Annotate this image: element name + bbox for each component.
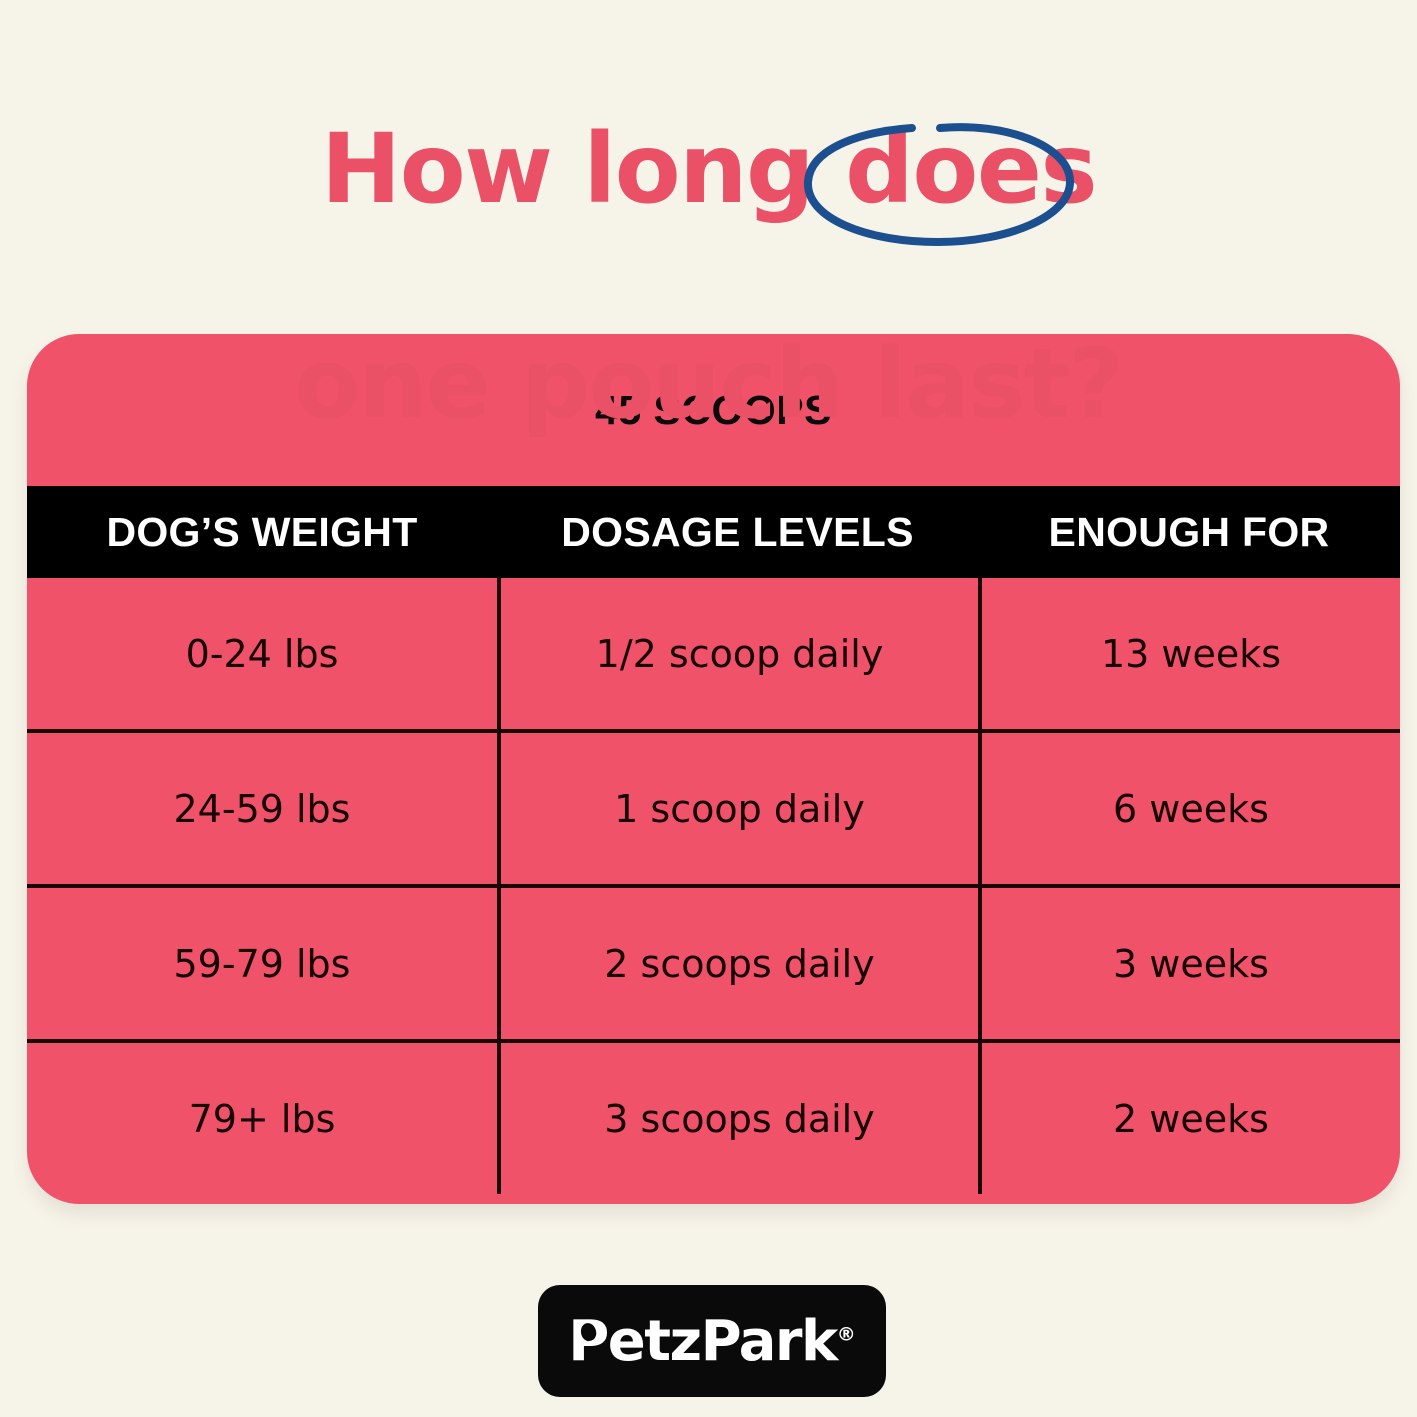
cell-dosage: 1 scoop daily bbox=[497, 733, 978, 884]
cell-weight: 24-59 lbs bbox=[27, 733, 497, 884]
cell-weight: 59-79 lbs bbox=[27, 888, 497, 1039]
cell-dosage: 2 scoops daily bbox=[497, 888, 978, 1039]
headline-block: How long does one pouch last? bbox=[0, 8, 1417, 546]
brand-logo-badge: PetzPark® bbox=[538, 1285, 886, 1397]
table-row: 24-59 lbs 1 scoop daily 6 weeks bbox=[27, 729, 1400, 884]
headline-line-1: How long does bbox=[294, 116, 1122, 224]
table-row: 0-24 lbs 1/2 scoop daily 13 weeks bbox=[27, 578, 1400, 729]
cell-weight: 79+ lbs bbox=[27, 1043, 497, 1194]
cell-duration: 2 weeks bbox=[978, 1043, 1400, 1194]
cell-dosage: 1/2 scoop daily bbox=[497, 578, 978, 729]
cell-duration: 6 weeks bbox=[978, 733, 1400, 884]
table-body: 0-24 lbs 1/2 scoop daily 13 weeks 24-59 … bbox=[27, 578, 1400, 1194]
cell-duration: 13 weeks bbox=[978, 578, 1400, 729]
headline-line-2: one pouch last? bbox=[294, 331, 1122, 439]
brand-name: PetzPark bbox=[568, 1309, 837, 1374]
registered-trademark-icon: ® bbox=[837, 1323, 856, 1345]
cell-weight: 0-24 lbs bbox=[27, 578, 497, 729]
cell-dosage: 3 scoops daily bbox=[497, 1043, 978, 1194]
page-title: How long does one pouch last? bbox=[294, 8, 1122, 546]
brand-logo-text: PetzPark® bbox=[568, 1309, 856, 1374]
table-row: 59-79 lbs 2 scoops daily 3 weeks bbox=[27, 884, 1400, 1039]
table-row: 79+ lbs 3 scoops daily 2 weeks bbox=[27, 1039, 1400, 1194]
cell-duration: 3 weeks bbox=[978, 888, 1400, 1039]
